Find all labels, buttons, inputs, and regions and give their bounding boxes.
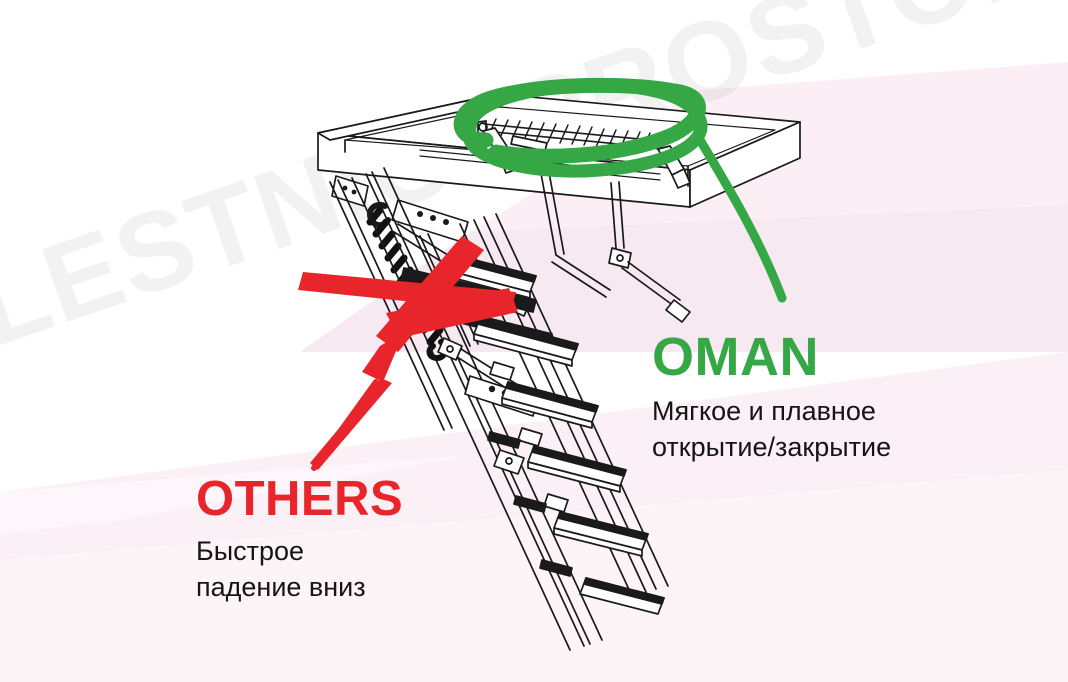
oman-callout: OMAN Мягкое и плавное открытие/закрытие bbox=[652, 330, 891, 465]
illustration-canvas: LESTNICI-PROSTO.RU bbox=[0, 0, 1068, 682]
others-callout: OTHERS Быстрое падение вниз bbox=[196, 475, 403, 605]
oman-description: Мягкое и плавное открытие/закрытие bbox=[652, 394, 891, 465]
others-description: Быстрое падение вниз bbox=[196, 534, 403, 605]
others-brand-label: OTHERS bbox=[196, 475, 403, 524]
red-arrow-marker bbox=[0, 0, 1068, 682]
oman-brand-label: OMAN bbox=[652, 330, 891, 384]
